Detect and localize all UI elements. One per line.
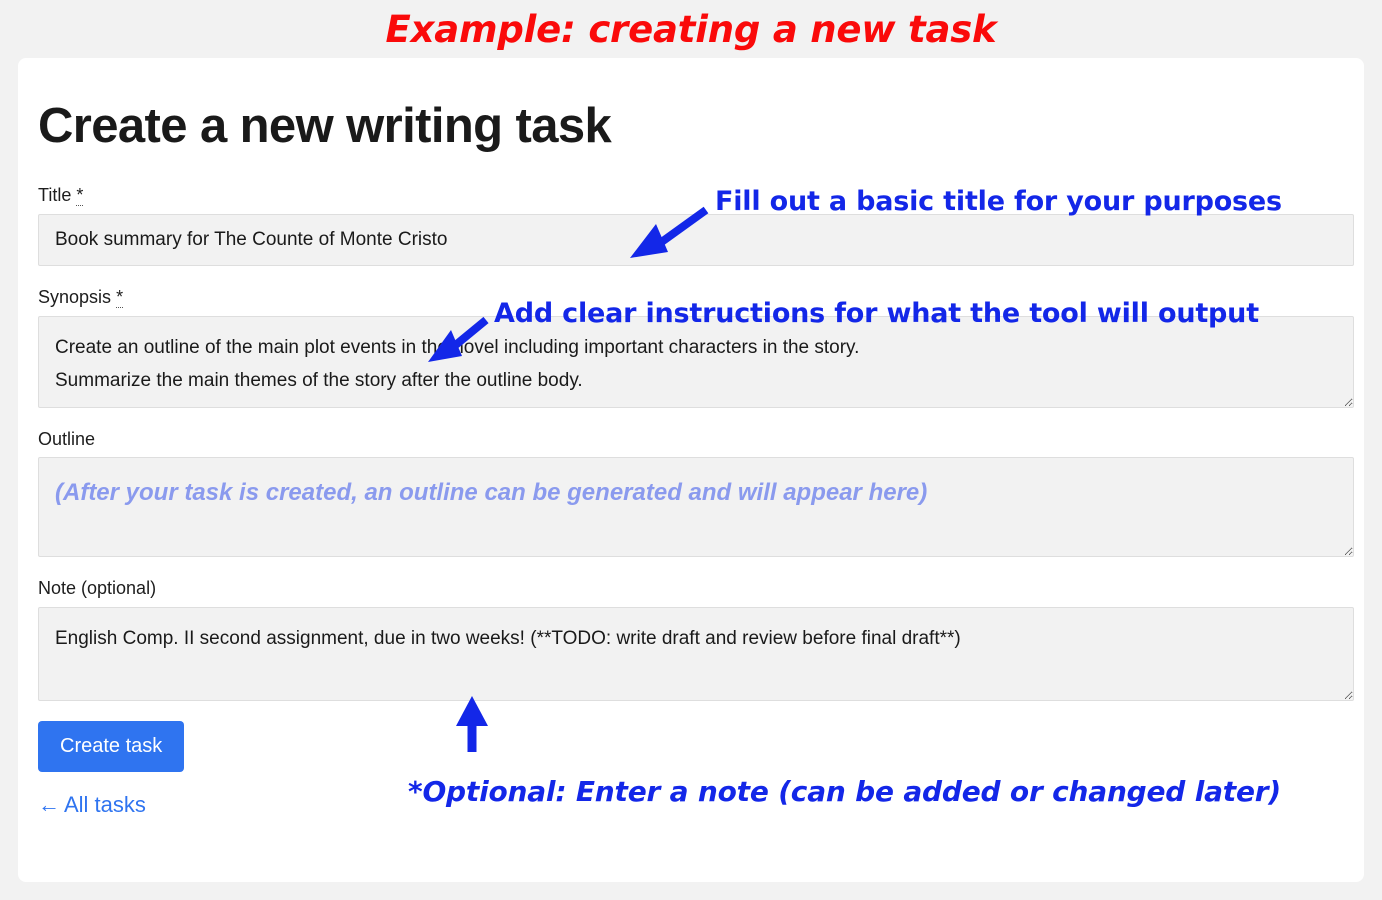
page-title: Create a new writing task (38, 98, 611, 154)
spacer (38, 408, 1354, 430)
outline-label-text: Outline (38, 429, 95, 449)
arrow-up-icon-note (452, 694, 492, 756)
annotation-synopsis-hint: Add clear instructions for what the tool… (494, 298, 1259, 329)
title-label-text: Title (38, 185, 71, 205)
arrow-left-icon: ← (38, 792, 60, 817)
annotation-title-hint: Fill out a basic title for your purposes (715, 186, 1282, 217)
annotation-banner: Example: creating a new task (0, 0, 1382, 58)
spacer (38, 557, 1354, 579)
banner-title: Example: creating a new task (386, 8, 997, 51)
note-label-text: Note (optional) (38, 578, 156, 598)
note-label: Note (optional) (38, 579, 1354, 599)
field-note: Note (optional) (38, 579, 1354, 701)
synopsis-label-text: Synopsis (38, 287, 111, 307)
create-task-button[interactable]: Create task (38, 721, 184, 772)
outline-textarea[interactable] (38, 457, 1354, 557)
outline-label: Outline (38, 430, 1354, 450)
synopsis-textarea[interactable] (38, 316, 1354, 408)
field-outline: Outline (38, 430, 1354, 558)
synopsis-required-marker: * (116, 287, 123, 308)
create-task-form: Title * Synopsis * Outline Note (38, 186, 1354, 818)
arrow-down-left-icon-synopsis (424, 316, 494, 366)
all-tasks-label: All tasks (64, 792, 146, 817)
spacer (38, 266, 1354, 288)
arrow-down-left-icon-title (624, 206, 714, 262)
annotation-note-hint: *Optional: Enter a note (can be added or… (408, 775, 1281, 808)
title-required-marker: * (76, 185, 83, 206)
note-textarea[interactable] (38, 607, 1354, 701)
form-card: Create a new writing task Title * Synops… (18, 58, 1364, 882)
